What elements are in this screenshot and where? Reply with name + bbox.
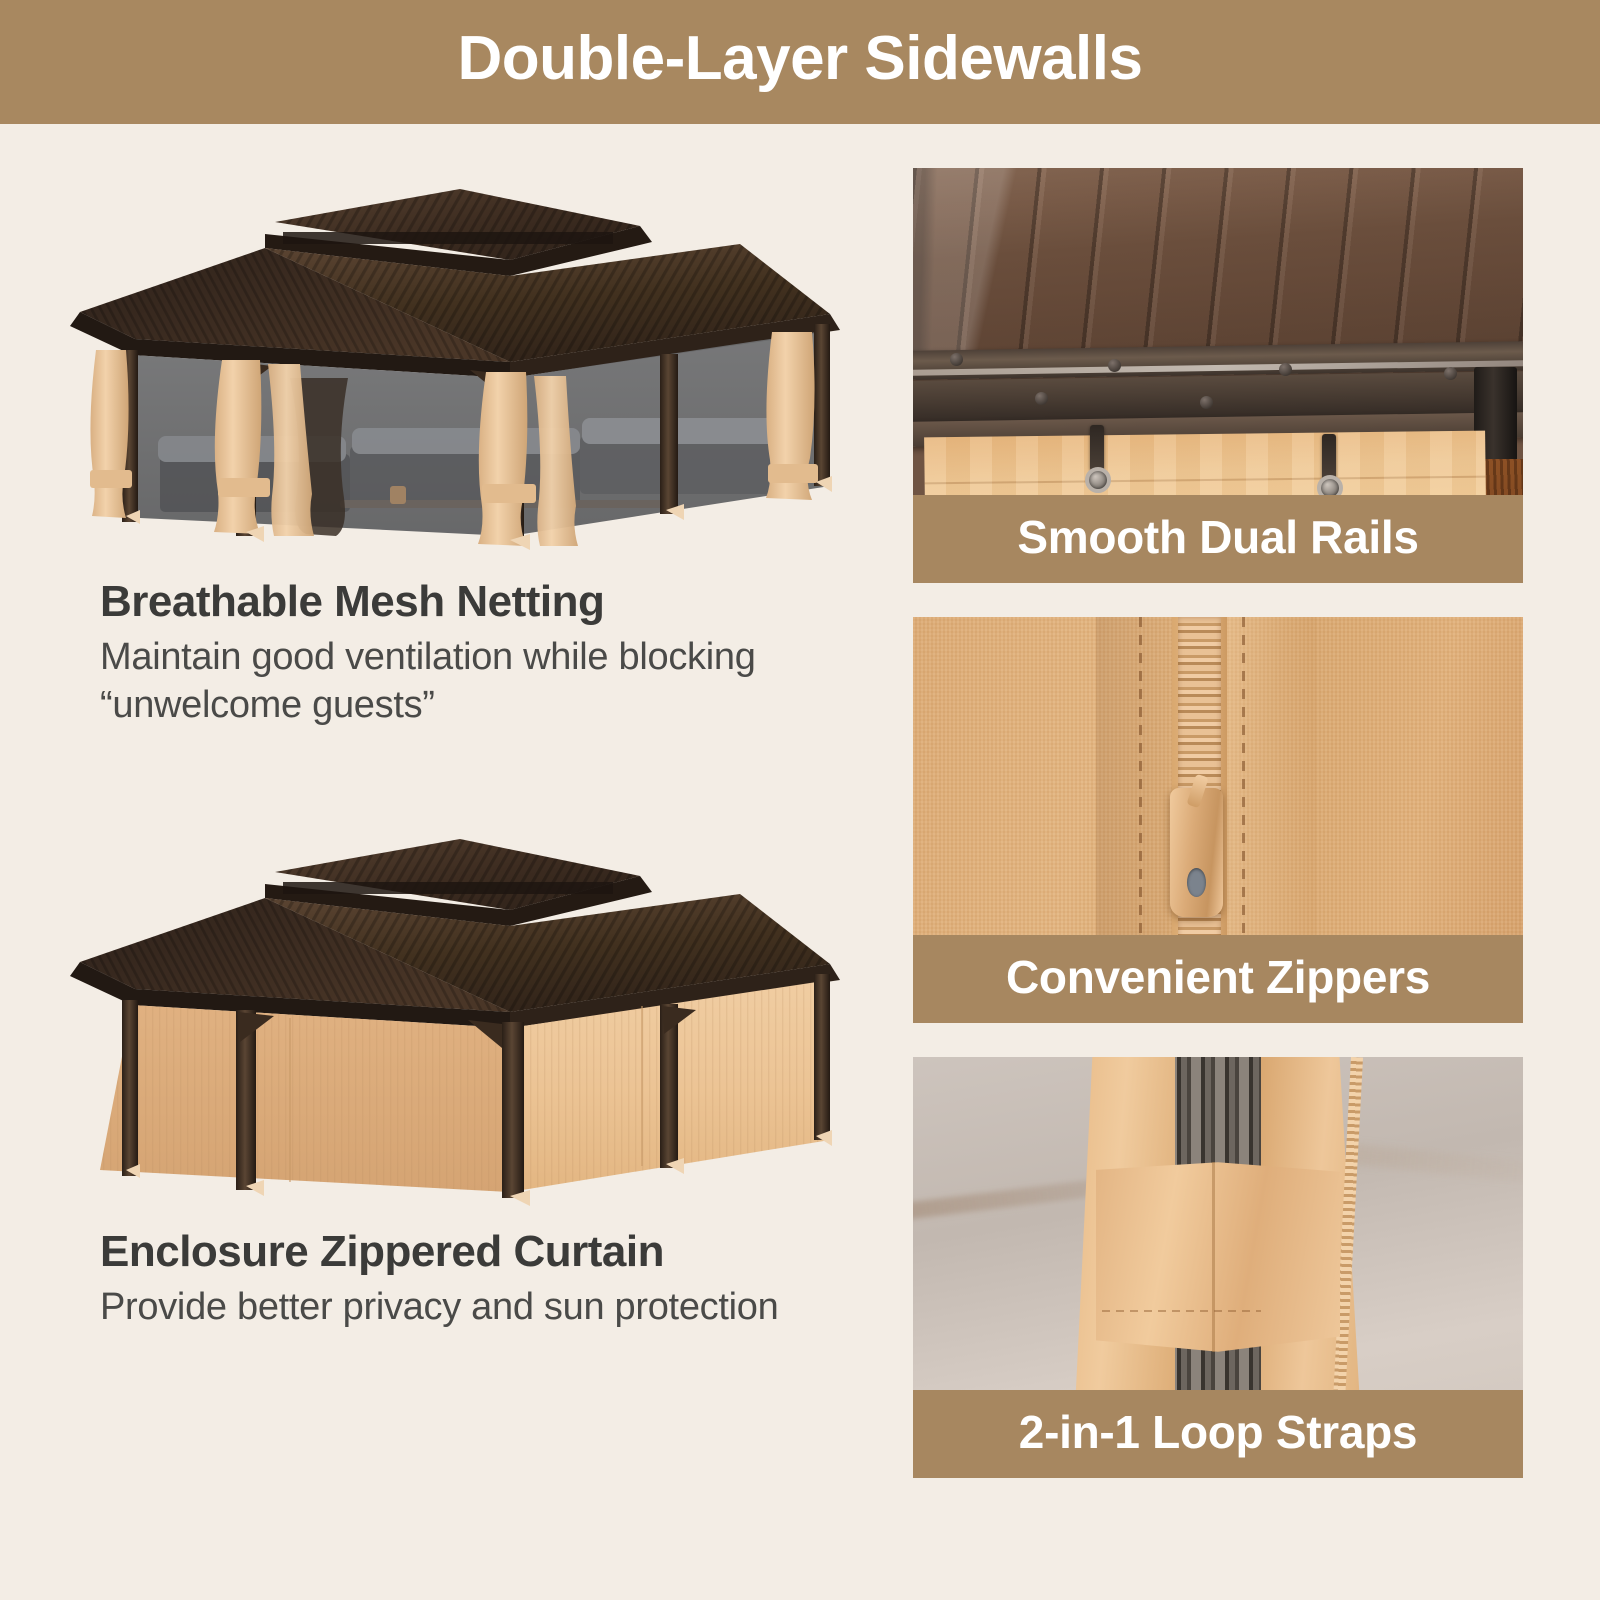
main-content: Breathable Mesh Netting Maintain good ve… bbox=[0, 124, 1600, 1600]
gazebo-with-zippered-curtains-image bbox=[40, 814, 840, 1214]
panel-caption-text: 2-in-1 Loop Straps bbox=[1019, 1409, 1417, 1459]
panel-caption-text: Smooth Dual Rails bbox=[1017, 514, 1418, 564]
left-feature-column: Breathable Mesh Netting Maintain good ve… bbox=[0, 124, 880, 1600]
feature-heading: Breathable Mesh Netting bbox=[100, 578, 840, 626]
loop-strap-closeup-photo: 2-in-1 Loop Straps bbox=[913, 1057, 1523, 1478]
panel-caption-text: Convenient Zippers bbox=[1006, 954, 1430, 1004]
header-banner: Double-Layer Sidewalls bbox=[0, 0, 1600, 124]
feature-body: Provide better privacy and sun protectio… bbox=[100, 1284, 840, 1332]
feature-block-mesh-netting: Breathable Mesh Netting Maintain good ve… bbox=[0, 164, 880, 730]
feature-block-zippered-curtain: Enclosure Zippered Curtain Provide bette… bbox=[0, 814, 880, 1332]
zipper-closeup-photo: Convenient Zippers bbox=[913, 617, 1523, 1023]
feature-heading: Enclosure Zippered Curtain bbox=[100, 1228, 840, 1276]
roof-rail-closeup-photo: Smooth Dual Rails bbox=[913, 168, 1523, 583]
panel-caption-bar: 2-in-1 Loop Straps bbox=[913, 1390, 1523, 1478]
page-title: Double-Layer Sidewalls bbox=[458, 28, 1143, 96]
panel-caption-bar: Smooth Dual Rails bbox=[913, 495, 1523, 583]
panel-loop-straps: 2-in-1 Loop Straps bbox=[913, 1057, 1523, 1478]
panel-smooth-dual-rails: Smooth Dual Rails bbox=[913, 168, 1523, 583]
panel-caption-bar: Convenient Zippers bbox=[913, 935, 1523, 1023]
feature-body: Maintain good ventilation while blocking… bbox=[100, 634, 840, 730]
feature-text-mesh-netting: Breathable Mesh Netting Maintain good ve… bbox=[100, 578, 840, 730]
gazebo-with-mesh-netting-image bbox=[40, 164, 840, 564]
panel-convenient-zippers: Convenient Zippers bbox=[913, 617, 1523, 1023]
feature-text-zippered-curtain: Enclosure Zippered Curtain Provide bette… bbox=[100, 1228, 840, 1332]
